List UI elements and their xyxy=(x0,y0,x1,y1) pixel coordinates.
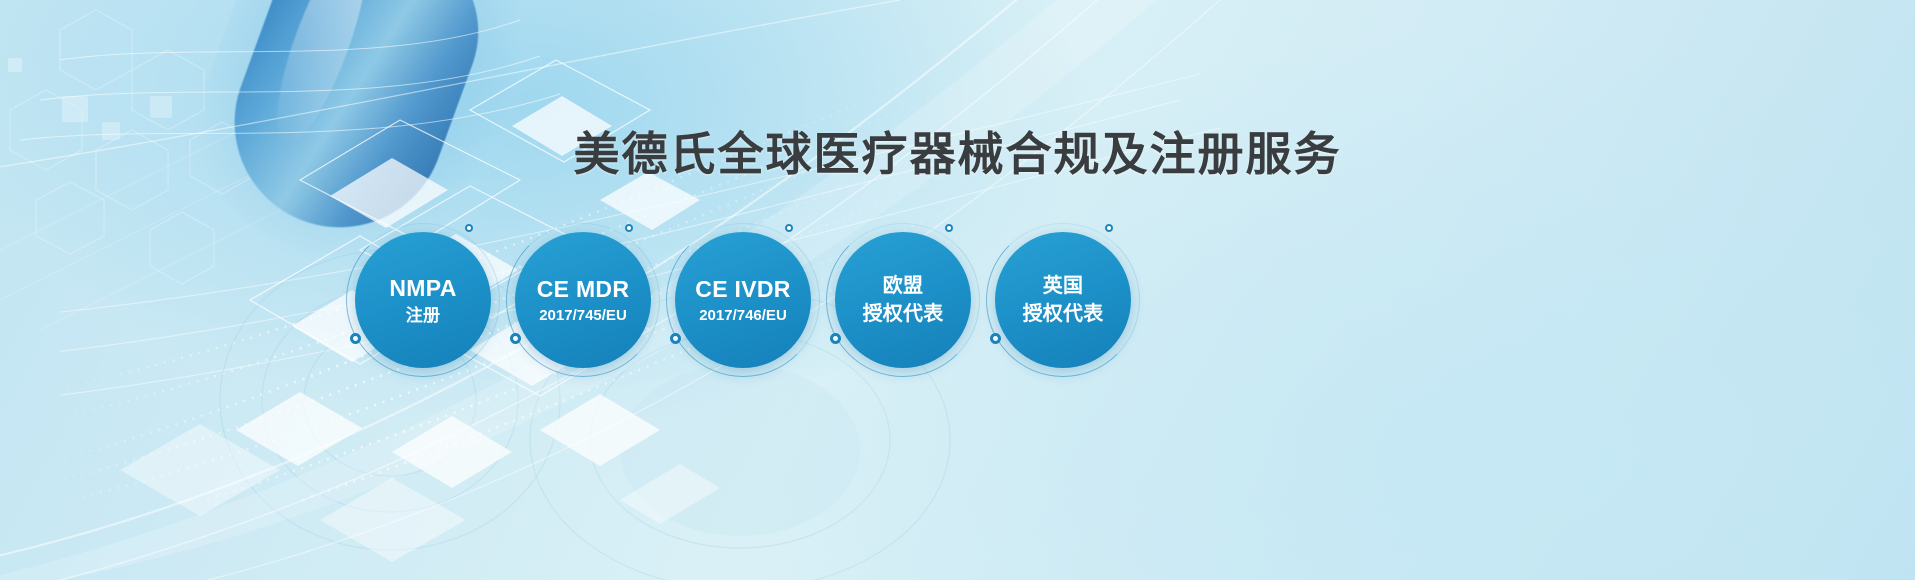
orbit-node-icon xyxy=(350,333,361,344)
badge-secondary-label: 授权代表 xyxy=(1023,302,1104,326)
badge-secondary-label: 2017/746/EU xyxy=(699,307,787,325)
badge-disc: 欧盟 授权代表 xyxy=(835,232,971,368)
badge-disc: CE IVDR 2017/746/EU xyxy=(675,232,811,368)
orbit-node-icon xyxy=(670,333,681,344)
orbit-node-icon xyxy=(510,333,521,344)
orbit-node-small-icon xyxy=(785,224,793,232)
badge-primary-label: CE MDR xyxy=(537,275,630,303)
hero-banner: 美德氏全球医疗器械合规及注册服务 NMPA 注册 CE MDR 2017/745… xyxy=(0,0,1915,580)
badge-disc: CE MDR 2017/745/EU xyxy=(515,232,651,368)
badge-secondary-label: 2017/745/EU xyxy=(539,307,627,325)
badge-primary-label: 英国 xyxy=(1043,274,1084,298)
orbit-node-small-icon xyxy=(1105,224,1113,232)
page-title: 美德氏全球医疗器械合规及注册服务 xyxy=(0,118,1915,184)
badge-disc: 英国 授权代表 xyxy=(995,232,1131,368)
orbit-node-icon xyxy=(830,333,841,344)
orbit-node-small-icon xyxy=(625,224,633,232)
badge-uk-authorized-rep[interactable]: 英国 授权代表 xyxy=(995,232,1131,368)
badge-secondary-label: 授权代表 xyxy=(863,302,944,326)
orbit-node-small-icon xyxy=(945,224,953,232)
badge-secondary-label: 注册 xyxy=(406,306,440,327)
badge-disc: NMPA 注册 xyxy=(355,232,491,368)
badge-ce-ivdr[interactable]: CE IVDR 2017/746/EU xyxy=(675,232,811,368)
badge-primary-label: 欧盟 xyxy=(883,274,924,298)
badge-ce-mdr[interactable]: CE MDR 2017/745/EU xyxy=(515,232,651,368)
badge-primary-label: CE IVDR xyxy=(695,275,790,303)
orbit-node-icon xyxy=(990,333,1001,344)
badge-nmpa[interactable]: NMPA 注册 xyxy=(355,232,491,368)
orbit-node-small-icon xyxy=(465,224,473,232)
badge-primary-label: NMPA xyxy=(389,274,456,302)
badge-eu-authorized-rep[interactable]: 欧盟 授权代表 xyxy=(835,232,971,368)
service-badge-row: NMPA 注册 CE MDR 2017/745/EU CE IVDR 2017/… xyxy=(355,232,1131,368)
